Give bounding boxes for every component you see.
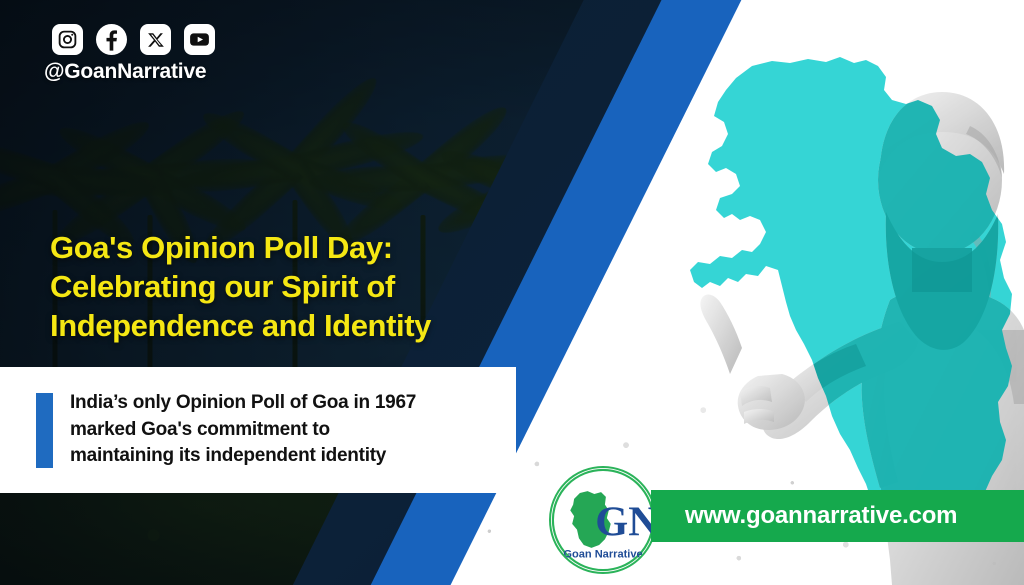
- headline-line-3: Independence and Identity: [50, 306, 510, 345]
- subtitle-text: India’s only Opinion Poll of Goa in 1967…: [70, 390, 416, 471]
- subtitle-line-1: India’s only Opinion Poll of Goa in 1967: [70, 390, 416, 417]
- social-graphic-canvas: @GoanNarrative Goa's Opinion Poll Day: C…: [0, 0, 1024, 585]
- subtitle-line-3: maintaining its independent identity: [70, 443, 416, 470]
- subtitle-accent-bar: [36, 393, 53, 468]
- website-banner[interactable]: www.goannarrative.com: [651, 490, 1024, 542]
- website-url: www.goannarrative.com: [685, 502, 957, 530]
- subtitle-line-2: marked Goa's commitment to: [70, 417, 416, 444]
- youtube-icon[interactable]: [184, 24, 215, 55]
- facebook-icon[interactable]: [96, 24, 127, 55]
- brand-logo[interactable]: GN Goan Narrative: [549, 466, 657, 574]
- headline-line-1: Goa's Opinion Poll Day:: [50, 228, 510, 267]
- social-icon-row: [52, 24, 215, 55]
- logo-monogram: GN: [595, 498, 655, 545]
- instagram-icon[interactable]: [52, 24, 83, 55]
- headline-line-2: Celebrating our Spirit of: [50, 267, 510, 306]
- social-handle: @GoanNarrative: [44, 60, 206, 84]
- page-title: Goa's Opinion Poll Day: Celebrating our …: [50, 228, 510, 345]
- logo-wordmark: Goan Narrative: [563, 549, 642, 561]
- subtitle-bar: India’s only Opinion Poll of Goa in 1967…: [0, 367, 516, 493]
- x-twitter-icon[interactable]: [140, 24, 171, 55]
